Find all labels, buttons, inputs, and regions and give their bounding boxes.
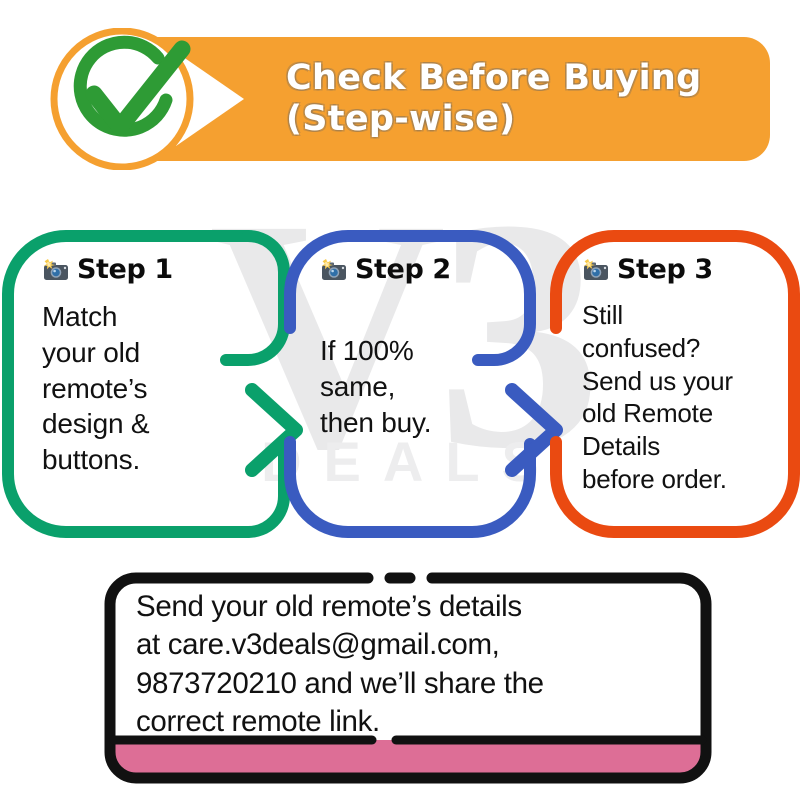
steps-row: Step 1 Match your old remote’s design & … [0, 228, 800, 540]
step-1-body: Match your old remote’s design & buttons… [42, 299, 234, 478]
callout-text: Send your old remote’s details at care.v… [136, 588, 692, 741]
step-3-heading: Step 3 [582, 254, 790, 285]
green-check-circle-icon [48, 28, 328, 170]
step-card-3[interactable]: Step 3 Still confused? Send us your old … [556, 228, 800, 540]
step-1-title: Step 1 [77, 254, 173, 285]
step-3-body: Still confused? Send us your old Remote … [582, 299, 790, 496]
infographic-canvas: V3 DEALS Check Before Buying (Step-wise) [0, 0, 800, 800]
header-banner: Check Before Buying (Step-wise) [48, 28, 770, 170]
step-card-1[interactable]: Step 1 Match your old remote’s design & … [12, 228, 250, 540]
header-title-line-1: Check Before Buying [286, 58, 754, 99]
step-1-heading: Step 1 [42, 254, 234, 285]
step-3-title: Step 3 [617, 254, 713, 285]
step-2-title: Step 2 [355, 254, 451, 285]
step-2-body: If 100% same, then buy. [320, 333, 512, 440]
step-card-2[interactable]: Step 2 If 100% same, then buy. [290, 228, 528, 540]
camera-with-flash-icon [320, 258, 348, 282]
contact-callout[interactable]: Send your old remote’s details at care.v… [104, 572, 712, 784]
camera-with-flash-icon [42, 258, 70, 282]
camera-with-flash-icon [582, 258, 610, 282]
step-2-heading: Step 2 [320, 254, 512, 285]
header-title-line-2: (Step-wise) [286, 99, 754, 140]
